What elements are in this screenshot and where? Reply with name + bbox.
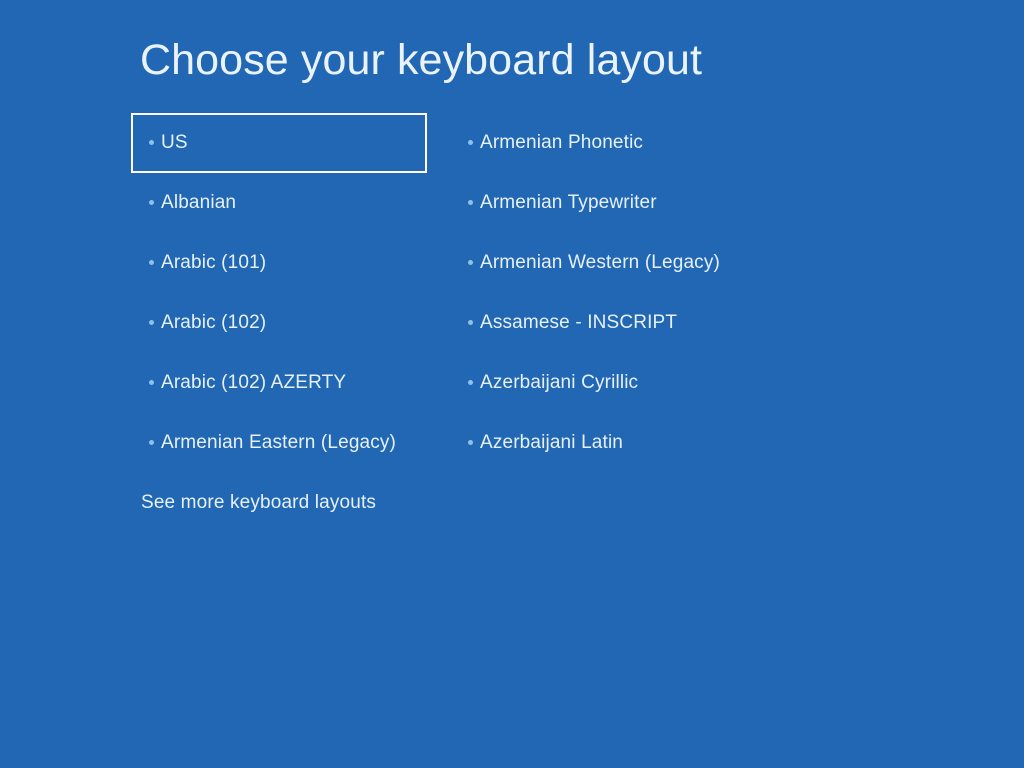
bullet-icon bbox=[468, 140, 473, 145]
page-title: Choose your keyboard layout bbox=[140, 36, 702, 85]
keyboard-layout-option-label: Arabic (102) bbox=[161, 312, 266, 334]
bullet-icon bbox=[468, 440, 473, 445]
keyboard-layout-option-label: Albanian bbox=[161, 192, 236, 214]
bullet-icon bbox=[149, 140, 154, 145]
keyboard-layout-option[interactable]: Armenian Eastern (Legacy) bbox=[131, 413, 431, 473]
keyboard-layout-option-label: Azerbaijani Cyrillic bbox=[480, 372, 638, 394]
keyboard-layout-option-label: Assamese - INSCRIPT bbox=[480, 312, 677, 334]
bullet-icon bbox=[468, 380, 473, 385]
keyboard-layout-option[interactable]: Arabic (102) AZERTY bbox=[131, 353, 431, 413]
keyboard-layout-option-label: Armenian Eastern (Legacy) bbox=[161, 432, 396, 454]
keyboard-layout-option[interactable]: Azerbaijani Latin bbox=[460, 413, 780, 473]
keyboard-layout-option[interactable]: Assamese - INSCRIPT bbox=[460, 293, 780, 353]
keyboard-layout-option-label: Armenian Typewriter bbox=[480, 192, 657, 214]
keyboard-layout-option[interactable]: Armenian Western (Legacy) bbox=[460, 233, 780, 293]
keyboard-layout-option-label: Azerbaijani Latin bbox=[480, 432, 623, 454]
bullet-icon bbox=[149, 260, 154, 265]
keyboard-layout-column-left: USAlbanianArabic (101)Arabic (102)Arabic… bbox=[131, 113, 431, 473]
bullet-icon bbox=[149, 440, 154, 445]
keyboard-layout-list: USAlbanianArabic (101)Arabic (102)Arabic… bbox=[0, 113, 1024, 533]
keyboard-layout-column-right: Armenian PhoneticArmenian TypewriterArme… bbox=[460, 113, 780, 473]
keyboard-layout-option[interactable]: Armenian Typewriter bbox=[460, 173, 780, 233]
bullet-icon bbox=[149, 380, 154, 385]
keyboard-layout-option[interactable]: Arabic (102) bbox=[131, 293, 431, 353]
keyboard-layout-option-label: Armenian Western (Legacy) bbox=[480, 252, 720, 274]
keyboard-layout-option-label: US bbox=[161, 132, 188, 154]
bullet-icon bbox=[468, 200, 473, 205]
keyboard-layout-option[interactable]: Armenian Phonetic bbox=[460, 113, 780, 173]
keyboard-layout-option-label: Armenian Phonetic bbox=[480, 132, 643, 154]
keyboard-layout-screen: Choose your keyboard layout USAlbanianAr… bbox=[0, 0, 1024, 768]
bullet-icon bbox=[149, 200, 154, 205]
bullet-icon bbox=[468, 260, 473, 265]
bullet-icon bbox=[149, 320, 154, 325]
keyboard-layout-option-label: Arabic (102) AZERTY bbox=[161, 372, 346, 394]
keyboard-layout-option[interactable]: US bbox=[131, 113, 427, 173]
keyboard-layout-option[interactable]: Azerbaijani Cyrillic bbox=[460, 353, 780, 413]
keyboard-layout-option[interactable]: Albanian bbox=[131, 173, 431, 233]
see-more-keyboard-layouts-link[interactable]: See more keyboard layouts bbox=[141, 492, 376, 514]
keyboard-layout-option-label: Arabic (101) bbox=[161, 252, 266, 274]
keyboard-layout-option[interactable]: Arabic (101) bbox=[131, 233, 431, 293]
bullet-icon bbox=[468, 320, 473, 325]
